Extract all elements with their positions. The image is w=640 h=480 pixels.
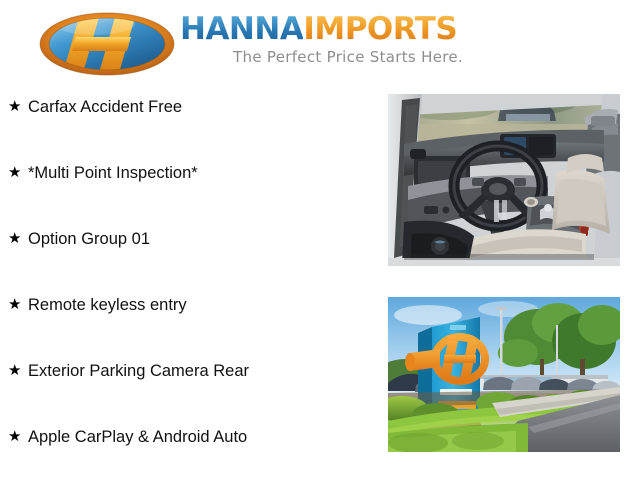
hanna-oval-h-emblem-icon <box>31 11 183 77</box>
feature-label: Option Group 01 <box>28 228 150 250</box>
brand-tagline: The Perfect Price Starts Here. <box>180 48 516 66</box>
wordmark-text: HANNAIMPORTS <box>180 12 530 46</box>
feature-label: Carfax Accident Free <box>28 96 182 118</box>
vehicle-features-list: ★ Carfax Accident Free ★ *Multi Point In… <box>0 96 380 480</box>
list-item: ★ Option Group 01 <box>0 228 380 294</box>
vehicle-listing-page: HANNAIMPORTS The Perfect Price Starts He… <box>0 0 640 480</box>
feature-label: Remote keyless entry <box>28 294 187 316</box>
brand-header: HANNAIMPORTS The Perfect Price Starts He… <box>0 0 640 88</box>
vehicle-interior-photo[interactable]: Vehicle interior: dashboard, steering wh… <box>388 94 620 266</box>
star-bullet-icon: ★ <box>8 426 28 448</box>
star-bullet-icon: ★ <box>8 294 28 316</box>
list-item: ★ Exterior Parking Camera Rear <box>0 360 380 426</box>
dealership-exterior-photo[interactable]: Hanna Imports dealership monument sign w… <box>388 297 620 452</box>
list-item: ★ Apple CarPlay & Android Auto <box>0 426 380 480</box>
brand-primary-text: HANNA <box>180 11 303 47</box>
brand-wordmark: HANNAIMPORTS The Perfect Price Starts He… <box>180 12 530 74</box>
star-bullet-icon: ★ <box>8 360 28 382</box>
brand-secondary-text: IMPORTS <box>303 11 457 47</box>
star-bullet-icon: ★ <box>8 96 28 118</box>
star-bullet-icon: ★ <box>8 162 28 184</box>
list-item: ★ Carfax Accident Free <box>0 96 380 162</box>
feature-label: *Multi Point Inspection* <box>28 162 198 184</box>
feature-label: Apple CarPlay & Android Auto <box>28 426 247 448</box>
list-item: ★ Remote keyless entry <box>0 294 380 360</box>
feature-label: Exterior Parking Camera Rear <box>28 360 249 382</box>
star-bullet-icon: ★ <box>8 228 28 250</box>
list-item: ★ *Multi Point Inspection* <box>0 162 380 228</box>
